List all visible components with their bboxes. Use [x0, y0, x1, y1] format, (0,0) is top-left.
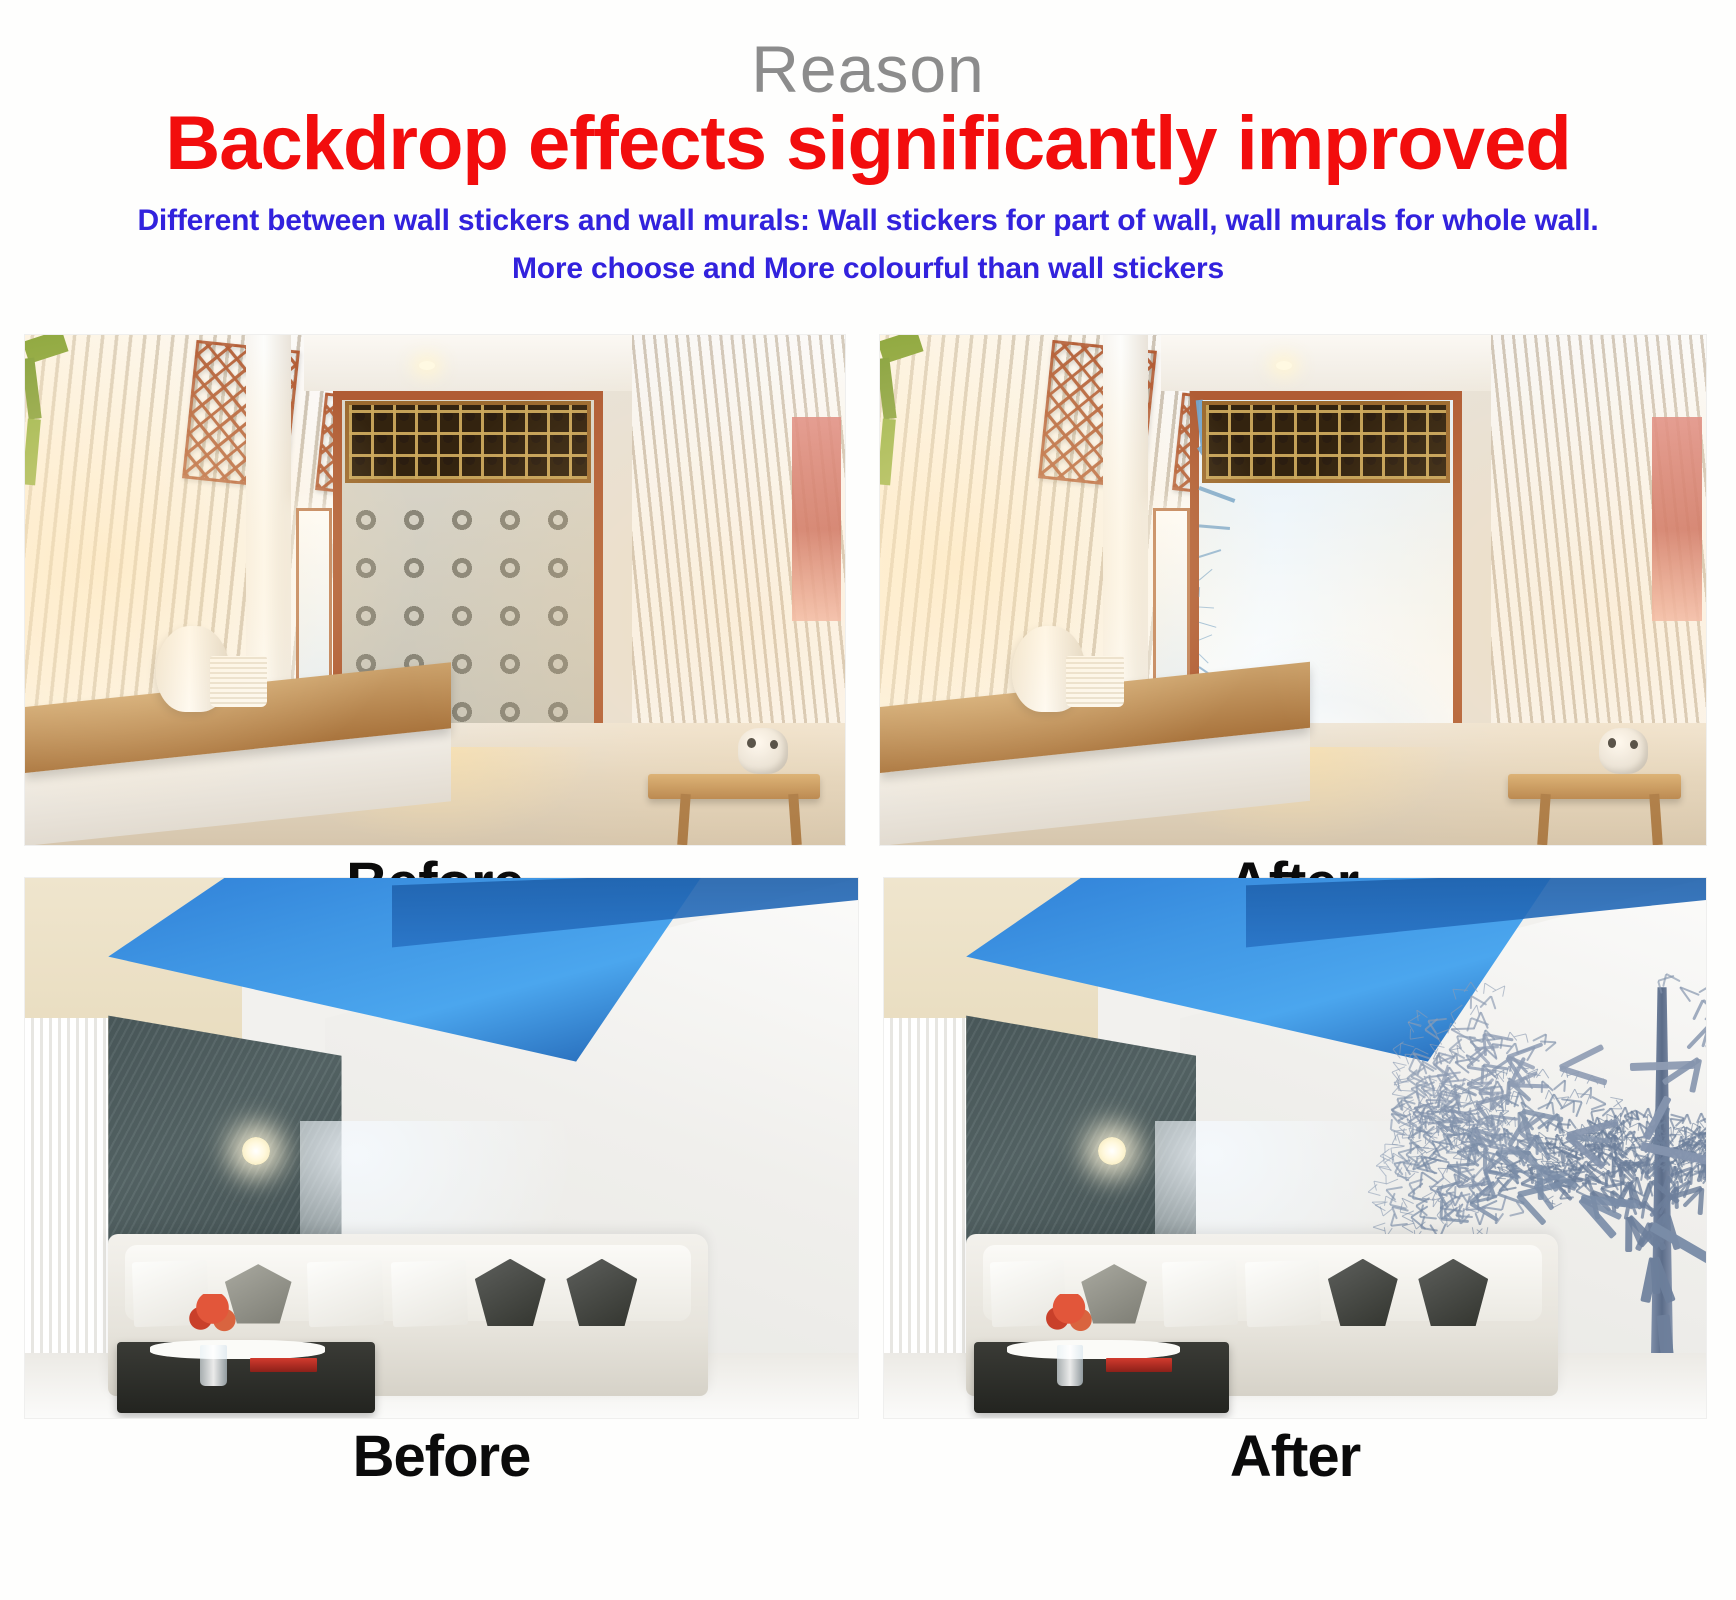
- promo-page: Reason Backdrop effects significantly im…: [0, 0, 1736, 1600]
- page-title: Backdrop effects significantly improved: [0, 104, 1736, 184]
- photo-livingroom-before: [25, 878, 858, 1418]
- comparison-cell-livingroom-before: Before: [25, 878, 858, 1508]
- comparison-cell-livingroom-after: After: [884, 878, 1706, 1508]
- caption-after: After: [884, 1428, 1706, 1486]
- subtitle-line-1: Different between wall stickers and wall…: [0, 204, 1736, 237]
- comparison-cell-hallway-before: Before: [25, 335, 845, 935]
- eyebrow-reason: Reason: [0, 36, 1736, 102]
- comparison-cell-hallway-after: After: [880, 335, 1706, 935]
- photo-livingroom-after: [884, 878, 1706, 1418]
- comparison-grid: Before: [0, 300, 1736, 1600]
- subtitle-line-2: More choose and More colourful than wall…: [0, 252, 1736, 285]
- photo-hallway-after: [880, 335, 1706, 845]
- header: Reason Backdrop effects significantly im…: [0, 0, 1736, 300]
- caption-before: Before: [25, 1428, 858, 1486]
- photo-hallway-before: [25, 335, 845, 845]
